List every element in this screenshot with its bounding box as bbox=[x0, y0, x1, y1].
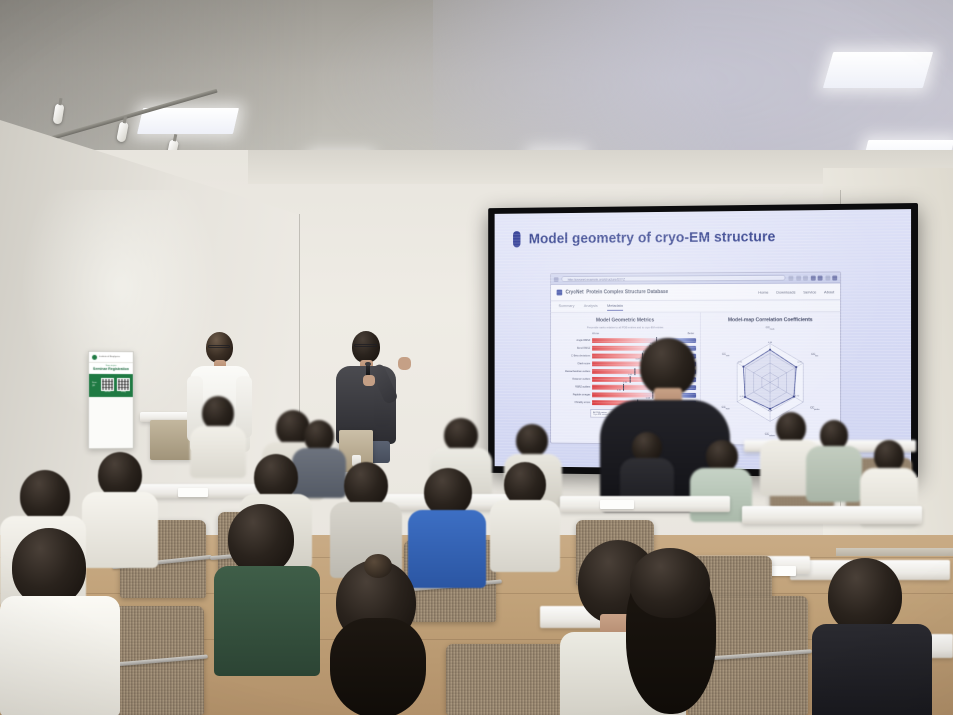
nav-item-downloads: Downloads bbox=[776, 289, 795, 294]
audience-member-foreground bbox=[600, 548, 732, 715]
head bbox=[444, 418, 478, 452]
radar-value-label: 0.76 bbox=[740, 396, 744, 398]
torso-green-shirt bbox=[214, 566, 320, 676]
ceiling-light-panel bbox=[823, 52, 933, 88]
radar-value-label: 0.72 bbox=[795, 396, 799, 398]
bar-category-label: Ramachandran outliers bbox=[555, 370, 592, 373]
torso bbox=[0, 596, 120, 715]
profile-icon bbox=[825, 275, 830, 280]
bar-category-label: Clash score bbox=[555, 362, 592, 365]
bar-chart-title: Model Geometric Metrics bbox=[555, 317, 696, 323]
slide-title: Model geometry of cryo-EM structure bbox=[529, 229, 776, 247]
axis-label-better: Better bbox=[688, 332, 695, 335]
radar-value-label: 0.79 bbox=[797, 362, 801, 364]
radar-data-point bbox=[795, 366, 797, 368]
head bbox=[516, 424, 548, 457]
head bbox=[12, 528, 86, 606]
site-tab-bar: Summary Analysis Metadata bbox=[551, 300, 840, 313]
glasses-icon bbox=[354, 344, 377, 347]
poster-headline: Seminar Registration bbox=[89, 367, 133, 371]
site-nav: Home Downloads Service About bbox=[758, 289, 834, 294]
desk bbox=[560, 496, 730, 512]
bookmark-icon bbox=[803, 275, 808, 280]
ceiling-light-panel bbox=[137, 108, 239, 134]
poster-qr-area: Scan QR WeChat Survey bbox=[89, 374, 133, 397]
radar-data-point bbox=[769, 349, 771, 351]
torso bbox=[490, 500, 560, 572]
audience-member-foreground bbox=[320, 560, 446, 715]
nav-item-about: About bbox=[824, 289, 834, 294]
bar-category-label: Rotamer outliers bbox=[555, 378, 592, 381]
browser-url-bar: http://cryonet.example.org/structure/6XY… bbox=[561, 275, 785, 282]
radar-axis-label: CCpeaks bbox=[810, 405, 819, 411]
slide-title-row: Model geometry of cryo-EM structure bbox=[513, 228, 775, 247]
sidebar-icon bbox=[554, 277, 559, 282]
bar-category-label: C-Beta deviations bbox=[555, 355, 592, 358]
audience-member bbox=[190, 396, 246, 474]
bar-category-label: Peptide omegas bbox=[555, 393, 592, 396]
brand-logo-icon bbox=[557, 290, 563, 296]
head bbox=[20, 470, 70, 522]
tab-analysis: Analysis bbox=[584, 303, 598, 310]
download-icon bbox=[818, 275, 823, 280]
desk bbox=[742, 506, 922, 524]
poster-headline-band: Scan to join Seminar Registration bbox=[89, 363, 133, 374]
bar-chart-subtitle: Percentile ranks relative to all PDB ent… bbox=[555, 325, 696, 329]
qr-caption: WeChat bbox=[101, 391, 114, 392]
glasses-icon bbox=[208, 345, 230, 348]
audience-member-foreground bbox=[0, 528, 120, 715]
head bbox=[352, 331, 380, 363]
torso bbox=[190, 426, 246, 478]
torso bbox=[806, 446, 862, 502]
qr-code-icon bbox=[101, 378, 114, 391]
head bbox=[202, 396, 234, 430]
notebook bbox=[178, 488, 208, 497]
poster-qr-block: Survey bbox=[117, 378, 130, 393]
tab-metadata: Metadata bbox=[607, 303, 623, 311]
audience-member-foreground bbox=[812, 558, 932, 715]
audience-member-foreground bbox=[214, 504, 320, 674]
poster-side-text: Scan QR bbox=[92, 382, 98, 388]
brand-name: CryoNet Protein Complex Structure Databa… bbox=[565, 289, 668, 295]
radar-axis-label: CCbox bbox=[811, 352, 818, 358]
radar-value-label: 0.81 bbox=[738, 361, 742, 363]
bar-category-label: Bond RMSZ bbox=[555, 347, 592, 350]
audience-member bbox=[490, 462, 560, 566]
qr-caption: Survey bbox=[117, 392, 130, 393]
baseboard bbox=[836, 548, 953, 556]
hand-holding-mic bbox=[363, 375, 375, 386]
radar-data-point bbox=[744, 396, 746, 398]
radar-value-label: 0.84 bbox=[768, 342, 772, 344]
nav-item-service: Service bbox=[803, 289, 816, 294]
reload-icon bbox=[796, 275, 801, 280]
poster-logo-icon bbox=[92, 354, 97, 359]
tabs-icon bbox=[810, 275, 815, 280]
poster-header: Institute of Biophysics bbox=[89, 352, 133, 363]
bar-category-label: Angle RMSZ bbox=[555, 339, 592, 342]
share-icon bbox=[788, 275, 793, 280]
notebook bbox=[600, 500, 634, 509]
tab-summary: Summary bbox=[558, 303, 574, 310]
browser-toolbar-icons bbox=[788, 275, 837, 280]
radar-data-point bbox=[742, 366, 744, 368]
torso bbox=[812, 624, 932, 715]
head bbox=[828, 558, 902, 634]
menu-icon bbox=[832, 275, 837, 280]
head bbox=[424, 468, 472, 516]
bar-category-label: Chirality errors bbox=[555, 401, 592, 404]
site-header: CryoNet Protein Complex Structure Databa… bbox=[551, 283, 840, 301]
qr-code-icon bbox=[117, 378, 130, 391]
radar-axis-label: CCmask bbox=[766, 325, 775, 331]
slide-bullet-icon bbox=[513, 231, 520, 247]
head bbox=[630, 548, 710, 618]
brand-suffix: Protein Complex Structure Database bbox=[586, 289, 668, 295]
lecture-hall-scene: Model geometry of cryo-EM structure http… bbox=[0, 0, 953, 715]
audience-member bbox=[330, 462, 402, 570]
hair bbox=[330, 618, 426, 715]
poster-qr-block: WeChat bbox=[101, 378, 114, 393]
head bbox=[228, 504, 294, 574]
standing-poster: Institute of Biophysics Scan to join Sem… bbox=[88, 351, 134, 449]
nav-item-home: Home bbox=[758, 289, 768, 294]
brand-primary: CryoNet bbox=[565, 290, 583, 296]
chair bbox=[446, 644, 566, 715]
poster-org-line: Institute of Biophysics bbox=[99, 356, 120, 358]
hand-raised bbox=[398, 357, 411, 370]
audience-member bbox=[620, 432, 674, 502]
audience-member bbox=[806, 420, 862, 500]
hair-bun bbox=[364, 554, 392, 578]
axis-label-worse: Worse bbox=[592, 332, 599, 335]
bar-category-label: RSRZ outliers bbox=[555, 386, 592, 389]
radar-chart-title: Model-map Correlation Coefficients bbox=[704, 317, 837, 323]
site-brand: CryoNet Protein Complex Structure Databa… bbox=[557, 289, 669, 295]
